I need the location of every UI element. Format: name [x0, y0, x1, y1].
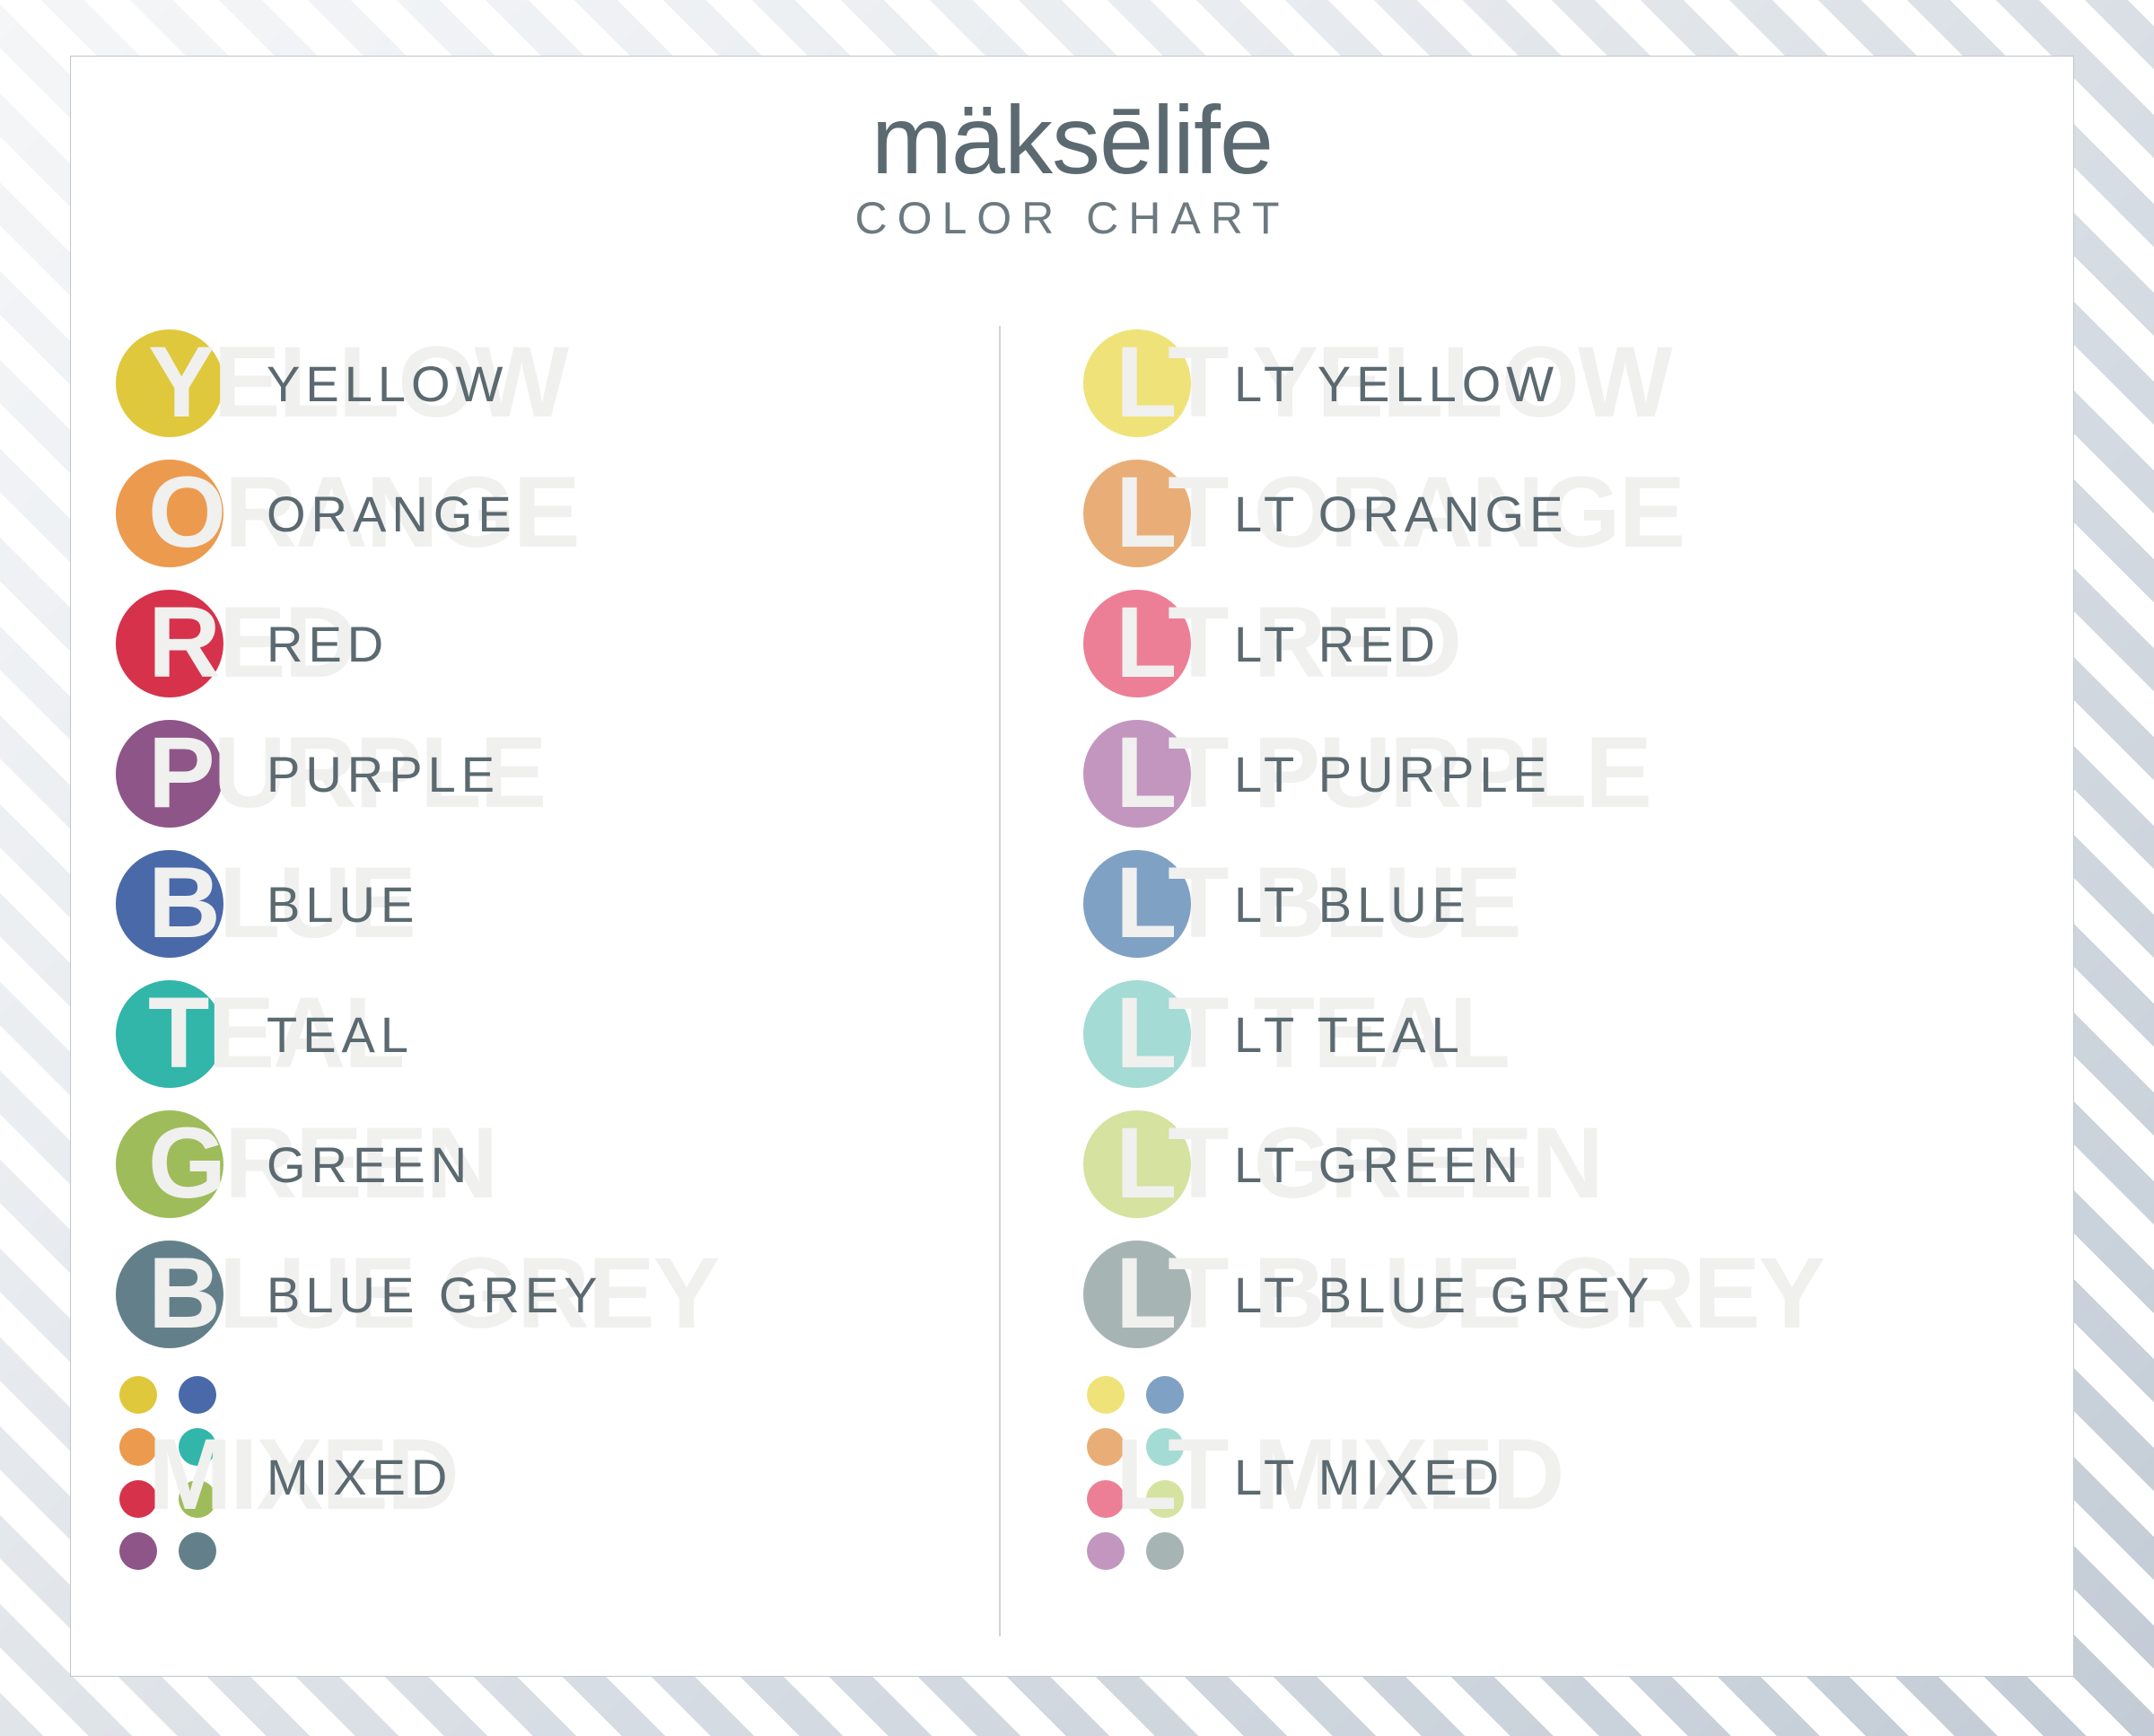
chart-header: mäksēlife COLOR CHART: [71, 89, 2073, 243]
standard-colors-column: YELLOWYELLOWORANGEORANGEREDREDPURPLEPURP…: [91, 319, 997, 1593]
color-label-group-lt-teal: LT TEALLT TEAL: [1234, 969, 1465, 1100]
color-chart-card: mäksēlife COLOR CHART YELLOWYELLOWORANGE…: [70, 56, 2074, 1677]
mixed-dot-2: [119, 1428, 157, 1466]
color-label-group-lt-red: LT REDLT RED: [1234, 579, 1440, 709]
mixed-dot-0: [1087, 1376, 1125, 1414]
color-label-group-lt-green: LT GREENLT GREEN: [1234, 1100, 1524, 1230]
color-label-yellow: YELLOW: [267, 355, 508, 413]
color-label-group-blue-grey: BLUE GREYBLUE GREY: [267, 1230, 603, 1360]
mixed-dot-3: [1146, 1428, 1184, 1466]
color-label-lt-mixed: LT MIXED: [1234, 1448, 1504, 1506]
color-label-blue: BLUE: [267, 875, 419, 934]
color-label-red: RED: [267, 615, 389, 673]
color-row-blue[interactable]: BLUEBLUE: [91, 839, 997, 969]
mixed-dot-5: [179, 1480, 216, 1518]
color-swatch-lt-blue[interactable]: [1083, 850, 1191, 958]
mixed-dot-4: [1087, 1480, 1125, 1518]
color-row-purple[interactable]: PURPLEPURPLE: [91, 709, 997, 839]
color-row-yellow[interactable]: YELLOWYELLOW: [91, 319, 997, 449]
page-title: COLOR CHART: [71, 194, 2073, 243]
color-label-group-lt-yellow: LT YELLOWLT YELLOW: [1234, 319, 1559, 449]
color-label-group-blue: BLUEBLUE: [267, 839, 419, 969]
color-swatch-blue[interactable]: [116, 850, 223, 958]
color-label-lt-red: LT RED: [1234, 615, 1440, 673]
brand-name-secondary: life: [1152, 85, 1273, 194]
color-row-lt-purple[interactable]: LT PURPLELT PURPLE: [1058, 709, 2063, 839]
color-label-group-mixed: MIXEDMIXED: [267, 1360, 452, 1593]
color-swatch-purple[interactable]: [116, 720, 223, 828]
color-label-group-lt-mixed: LT MIXEDLT MIXED: [1234, 1360, 1504, 1593]
mixed-dot-6: [119, 1532, 157, 1570]
color-row-lt-green[interactable]: LT GREENLT GREEN: [1058, 1100, 2063, 1230]
color-label-lt-blue: LT BLUE: [1234, 875, 1471, 934]
brand-name-primary: mäksē: [871, 85, 1152, 194]
mixed-swatch-grid-mixed: [116, 1372, 220, 1574]
mixed-dot-3: [179, 1428, 216, 1466]
color-row-lt-teal[interactable]: LT TEALLT TEAL: [1058, 969, 2063, 1100]
color-swatch-lt-green[interactable]: [1083, 1110, 1191, 1218]
light-colors-column: LT YELLOWLT YELLOWLT ORANGELT ORANGELT R…: [1058, 319, 2063, 1593]
color-row-lt-orange[interactable]: LT ORANGELT ORANGE: [1058, 449, 2063, 579]
color-label-group-teal: TEALTEAL: [267, 969, 414, 1100]
mixed-swatch-grid-lt-mixed: [1083, 1372, 1187, 1574]
mixed-dot-7: [1146, 1532, 1184, 1570]
brand-logo: mäksēlife: [71, 89, 2073, 190]
color-swatch-lt-blue-grey[interactable]: [1083, 1241, 1191, 1348]
color-label-group-lt-blue-grey: LT BLUE GREYLT BLUE GREY: [1234, 1230, 1654, 1360]
color-row-red[interactable]: REDRED: [91, 579, 997, 709]
color-label-lt-purple: LT PURPLE: [1234, 745, 1552, 803]
mixed-dot-1: [179, 1376, 216, 1414]
color-row-lt-mixed[interactable]: LT MIXEDLT MIXED: [1058, 1360, 2063, 1593]
color-label-lt-yellow: LT YELLOW: [1234, 355, 1559, 413]
mixed-dot-6: [1087, 1532, 1125, 1570]
color-row-lt-yellow[interactable]: LT YELLOWLT YELLOW: [1058, 319, 2063, 449]
color-swatch-lt-yellow[interactable]: [1083, 329, 1191, 437]
color-swatch-lt-orange[interactable]: [1083, 460, 1191, 567]
color-label-group-lt-blue: LT BLUELT BLUE: [1234, 839, 1471, 969]
color-label-green: GREEN: [267, 1135, 472, 1194]
color-row-lt-blue-grey[interactable]: LT BLUE GREYLT BLUE GREY: [1058, 1230, 2063, 1360]
color-row-teal[interactable]: TEALTEAL: [91, 969, 997, 1100]
color-row-orange[interactable]: ORANGEORANGE: [91, 449, 997, 579]
color-label-group-red: REDRED: [267, 579, 389, 709]
color-label-blue-grey: BLUE GREY: [267, 1266, 603, 1324]
color-swatch-orange[interactable]: [116, 460, 223, 567]
mixed-dot-0: [119, 1376, 157, 1414]
mixed-dot-7: [179, 1532, 216, 1570]
color-label-lt-teal: LT TEAL: [1234, 1005, 1465, 1064]
color-label-purple: PURPLE: [267, 745, 500, 803]
color-swatch-lt-purple[interactable]: [1083, 720, 1191, 828]
color-label-group-purple: PURPLEPURPLE: [267, 709, 500, 839]
color-swatch-blue-grey[interactable]: [116, 1241, 223, 1348]
mixed-dot-2: [1087, 1428, 1125, 1466]
mixed-dot-1: [1146, 1376, 1184, 1414]
color-label-teal: TEAL: [267, 1005, 414, 1064]
mixed-dot-4: [119, 1480, 157, 1518]
color-label-group-green: GREENGREEN: [267, 1100, 472, 1230]
color-label-lt-blue-grey: LT BLUE GREY: [1234, 1266, 1654, 1324]
color-row-lt-red[interactable]: LT REDLT RED: [1058, 579, 2063, 709]
color-swatch-green[interactable]: [116, 1110, 223, 1218]
color-label-mixed: MIXED: [267, 1448, 452, 1506]
color-label-group-orange: ORANGEORANGE: [267, 449, 517, 579]
color-swatch-lt-red[interactable]: [1083, 590, 1191, 697]
color-swatch-teal[interactable]: [116, 980, 223, 1088]
color-label-lt-orange: LT ORANGE: [1234, 485, 1568, 543]
mixed-dot-5: [1146, 1480, 1184, 1518]
column-divider: [999, 326, 1001, 1636]
color-label-orange: ORANGE: [267, 485, 517, 543]
color-swatch-lt-teal[interactable]: [1083, 980, 1191, 1088]
color-row-green[interactable]: GREENGREEN: [91, 1100, 997, 1230]
color-row-lt-blue[interactable]: LT BLUELT BLUE: [1058, 839, 2063, 969]
color-row-blue-grey[interactable]: BLUE GREYBLUE GREY: [91, 1230, 997, 1360]
color-label-lt-green: LT GREEN: [1234, 1135, 1524, 1194]
color-row-mixed[interactable]: MIXEDMIXED: [91, 1360, 997, 1593]
color-swatch-yellow[interactable]: [116, 329, 223, 437]
color-label-group-yellow: YELLOWYELLOW: [267, 319, 508, 449]
color-swatch-red[interactable]: [116, 590, 223, 697]
color-label-group-lt-purple: LT PURPLELT PURPLE: [1234, 709, 1552, 839]
color-label-group-lt-orange: LT ORANGELT ORANGE: [1234, 449, 1568, 579]
